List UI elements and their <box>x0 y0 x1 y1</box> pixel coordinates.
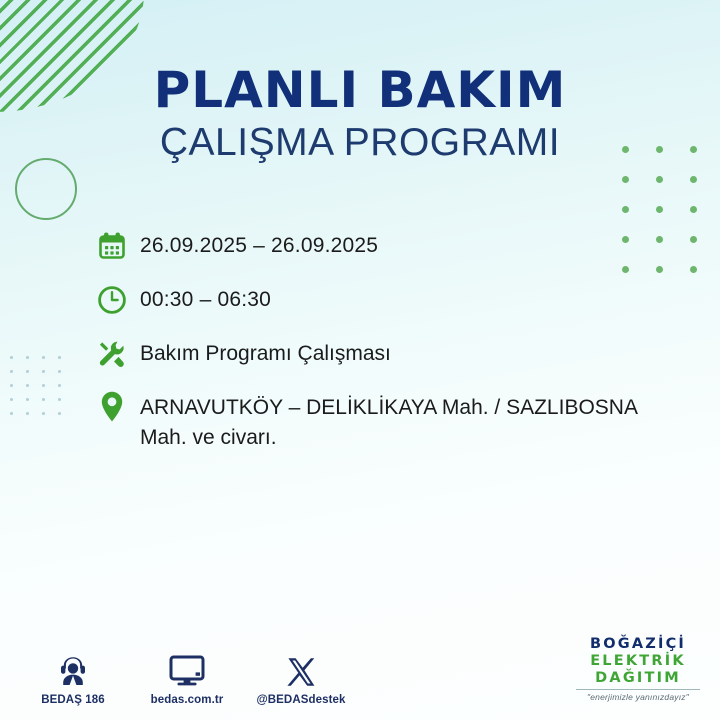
detail-date-text: 26.09.2025 – 26.09.2025 <box>140 226 656 261</box>
logo-line-elektrik: ELEKTRİK <box>574 653 702 670</box>
contact-website[interactable]: bedas.com.tr <box>142 648 232 706</box>
page-subtitle: ÇALIŞMA PROGRAMI <box>0 120 720 166</box>
logo-divider <box>576 689 700 690</box>
detail-row-time: 00:30 – 06:30 <box>96 280 656 320</box>
detail-row-location: ARNAVUTKÖY – DELİKLİKAYA Mah. / SAZLIBOS… <box>96 388 656 453</box>
page-title: PLANLI BAKIM <box>0 62 720 118</box>
support-agent-icon <box>28 648 118 688</box>
company-logo: BOĞAZİÇİ ELEKTRİK DAĞITIM "enerjimizle y… <box>574 636 702 702</box>
contact-social[interactable]: @BEDASdestek <box>256 648 346 706</box>
circle-outline-decoration <box>15 158 77 220</box>
detail-time-text: 00:30 – 06:30 <box>140 280 656 315</box>
poster-title-block: PLANLI BAKIM ÇALIŞMA PROGRAMI <box>0 62 720 166</box>
contact-phone-label: BEDAŞ 186 <box>28 694 118 706</box>
logo-tagline: "enerjimizle yanınızdayız" <box>574 692 702 702</box>
monitor-icon <box>142 648 232 688</box>
planned-maintenance-poster: PLANLI BAKIM ÇALIŞMA PROGRAMI <box>0 0 720 720</box>
x-twitter-icon <box>256 648 346 688</box>
contact-website-label: bedas.com.tr <box>142 694 232 706</box>
detail-location-text: ARNAVUTKÖY – DELİKLİKAYA Mah. / SAZLIBOS… <box>140 388 656 453</box>
footer-contacts: BEDAŞ 186 bedas.com.tr @BEDASdestek <box>28 648 346 706</box>
detail-row-date: 26.09.2025 – 26.09.2025 <box>96 226 656 266</box>
logo-line-dagitim: DAĞITIM <box>574 670 702 687</box>
contact-phone[interactable]: BEDAŞ 186 <box>28 648 118 706</box>
dot-grid-decoration-left <box>10 356 74 426</box>
tools-icon <box>96 334 140 374</box>
detail-work-type-text: Bakım Programı Çalışması <box>140 334 656 369</box>
calendar-icon <box>96 226 140 266</box>
logo-line-bogazici: BOĞAZİÇİ <box>574 636 702 653</box>
outage-details-list: 26.09.2025 – 26.09.2025 00:30 – 06:30 <box>96 226 656 453</box>
contact-social-label: @BEDASdestek <box>256 694 346 706</box>
detail-row-work-type: Bakım Programı Çalışması <box>96 334 656 374</box>
map-pin-icon <box>96 388 140 430</box>
clock-icon <box>96 280 140 320</box>
